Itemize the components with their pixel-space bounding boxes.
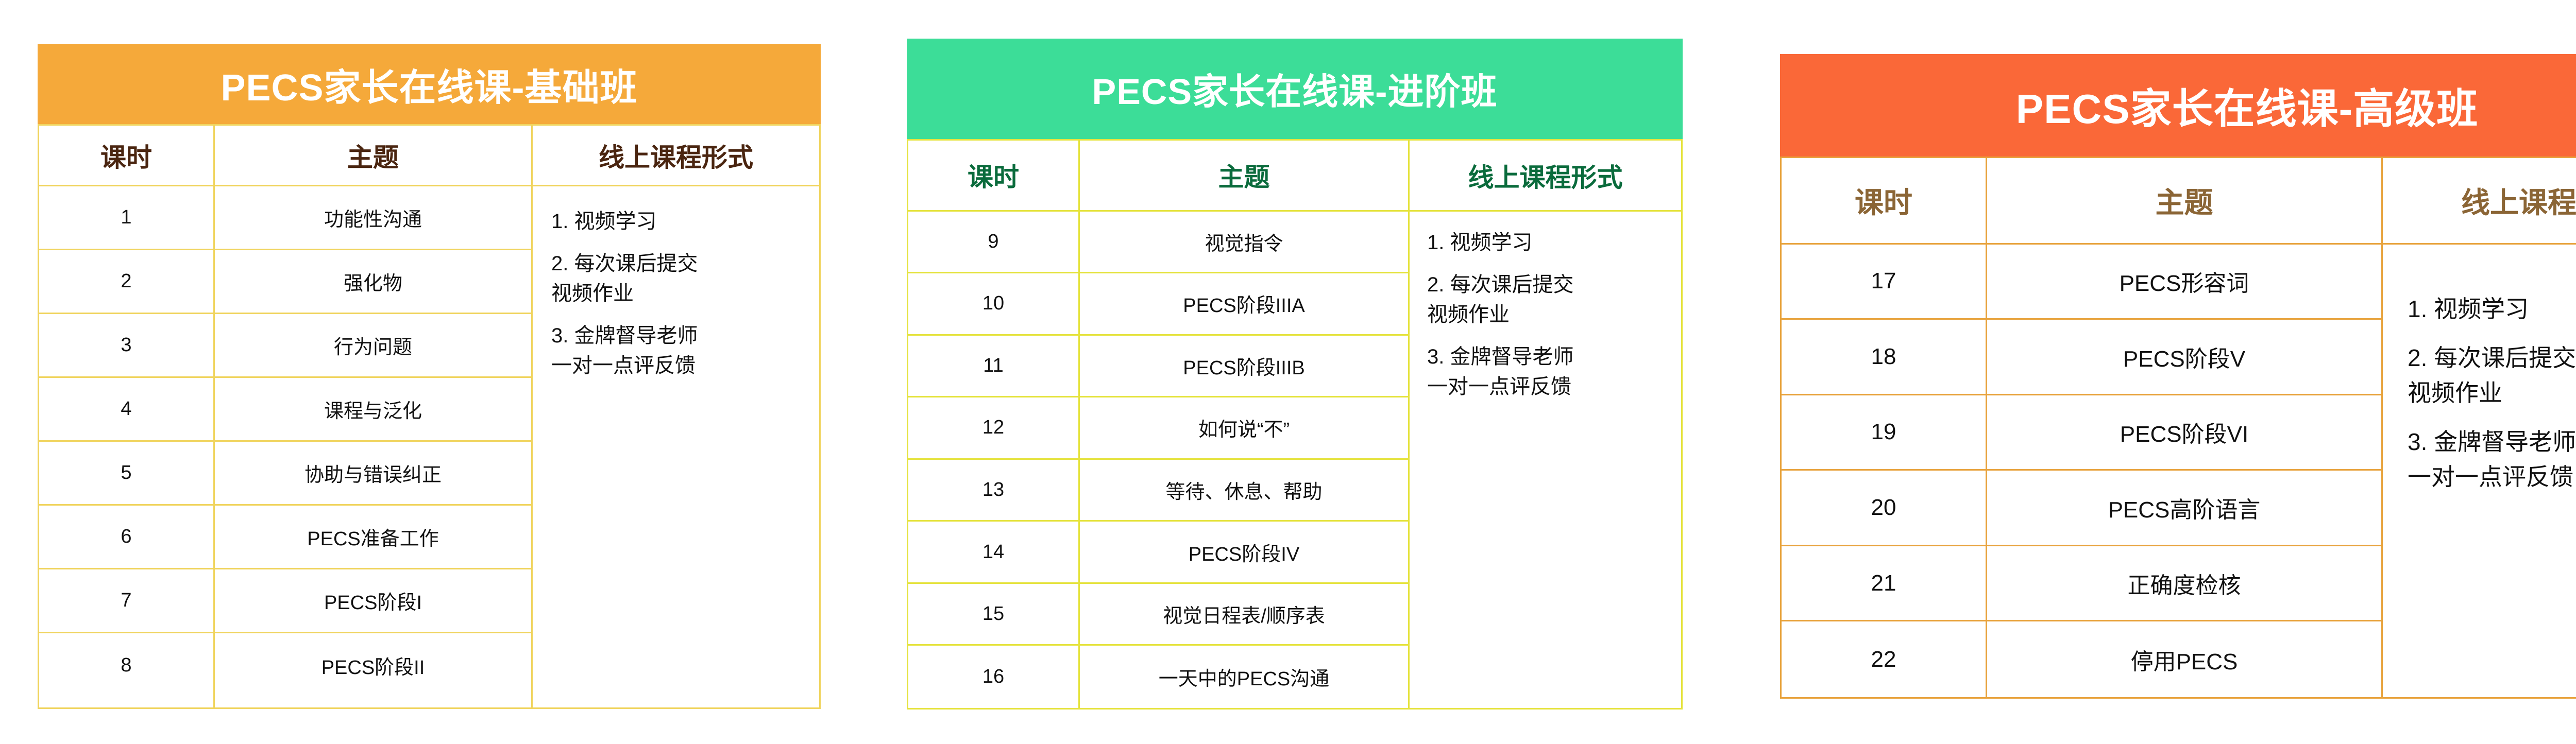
column-header-lesson-no: 课时	[39, 126, 213, 186]
course-format-item: 视频作业	[551, 279, 819, 308]
column-lesson-no: 课时 9 10 11 12 13 14 15 16	[908, 141, 1078, 708]
course-format-item: 1. 视频学习	[2408, 292, 2576, 326]
table-row: 等待、休息、帮助	[1080, 460, 1408, 522]
table-row: 19	[1782, 395, 1986, 471]
course-format-item: 2. 每次课后提交	[551, 249, 819, 279]
table-row: PECS阶段IIIA	[1080, 273, 1408, 336]
course-format-item: 一对一点评反馈	[1427, 372, 1681, 402]
table-row: 7	[39, 569, 213, 633]
course-format-item: 3. 金牌督导老师	[2408, 425, 2576, 459]
course-format-item: 一对一点评反馈	[2408, 460, 2576, 494]
table-grid-basic: 课时 1 2 3 4 5 6 7 8 主题 功能性沟通 强化物 行为问题 课程与…	[38, 124, 821, 709]
table-row: PECS阶段I	[215, 569, 531, 633]
table-row: 22	[1782, 621, 1986, 697]
table-row: 13	[908, 460, 1078, 522]
banner-title-advanced: PECS家长在线课-高级班	[2016, 76, 2479, 135]
table-row: 行为问题	[215, 314, 531, 378]
course-format-item: 3. 金牌督导老师	[551, 321, 819, 351]
table-row: PECS准备工作	[215, 506, 531, 569]
column-header-topic: 主题	[1080, 141, 1408, 212]
table-grid-advanced: 课时 17 18 19 20 21 22 主题 PECS形容词 PECS阶段V …	[1780, 157, 2576, 699]
table-row: PECS阶段VI	[1987, 395, 2381, 471]
table-row: 停用PECS	[1987, 621, 2381, 697]
table-row: 11	[908, 336, 1078, 398]
course-schedule-board: PECS家长在线课-基础班 课时 1 2 3 4 5 6 7 8 主题 功能性沟…	[0, 0, 2576, 744]
course-format-item: 1. 视频学习	[1427, 228, 1681, 257]
table-grid-intermediate: 课时 9 10 11 12 13 14 15 16 主题 视觉指令 PECS阶段…	[907, 139, 1683, 710]
course-format-item: 视频作业	[1427, 300, 1681, 330]
course-table-advanced: PECS家长在线课-高级班 课时 17 18 19 20 21 22 主题 PE…	[1780, 54, 2576, 699]
table-row: 20	[1782, 471, 1986, 546]
table-row: 4	[39, 378, 213, 442]
table-row: 1	[39, 186, 213, 250]
table-banner-advanced: PECS家长在线课-高级班	[1780, 54, 2576, 157]
column-header-course-format: 线上课程形式	[533, 126, 819, 186]
column-header-course-format: 线上课程形式	[1410, 141, 1681, 212]
table-row: PECS阶段IV	[1080, 522, 1408, 584]
column-topic: 主题 视觉指令 PECS阶段IIIA PECS阶段IIIB 如何说“不” 等待、…	[1078, 141, 1408, 708]
course-format-list: 1. 视频学习 2. 每次课后提交 视频作业 3. 金牌督导老师 一对一点评反馈	[2383, 245, 2576, 494]
table-row: PECS形容词	[1987, 245, 2381, 320]
table-row: 6	[39, 506, 213, 569]
course-format-item: 2. 每次课后提交	[1427, 270, 1681, 300]
column-lesson-no: 课时 17 18 19 20 21 22	[1782, 158, 1986, 697]
table-row: PECS高阶语言	[1987, 471, 2381, 546]
column-header-topic: 主题	[1987, 158, 2381, 245]
course-table-intermediate: PECS家长在线课-进阶班 课时 9 10 11 12 13 14 15 16 …	[907, 39, 1683, 710]
table-row: 视觉指令	[1080, 212, 1408, 274]
column-topic: 主题 PECS形容词 PECS阶段V PECS阶段VI PECS高阶语言 正确度…	[1986, 158, 2381, 697]
table-row: 18	[1782, 320, 1986, 395]
table-row: PECS阶段II	[215, 633, 531, 697]
table-row: 3	[39, 314, 213, 378]
table-row: 正确度检核	[1987, 546, 2381, 622]
table-row: 一天中的PECS沟通	[1080, 646, 1408, 708]
column-header-lesson-no: 课时	[908, 141, 1078, 212]
table-row: 14	[908, 522, 1078, 584]
column-course-format: 线上课程形式 1. 视频学习 2. 每次课后提交 视频作业 3. 金牌督导老师 …	[2381, 158, 2576, 697]
table-row: 8	[39, 633, 213, 697]
column-course-format: 线上课程形式 1. 视频学习 2. 每次课后提交 视频作业 3. 金牌督导老师 …	[531, 126, 819, 707]
table-row: 2	[39, 250, 213, 314]
table-row: 功能性沟通	[215, 186, 531, 250]
course-table-basic: PECS家长在线课-基础班 课时 1 2 3 4 5 6 7 8 主题 功能性沟…	[38, 44, 821, 709]
table-row: 10	[908, 273, 1078, 336]
table-row: 16	[908, 646, 1078, 708]
table-banner-intermediate: PECS家长在线课-进阶班	[907, 39, 1683, 139]
column-course-format: 线上课程形式 1. 视频学习 2. 每次课后提交 视频作业 3. 金牌督导老师 …	[1408, 141, 1681, 708]
table-row: 12	[908, 397, 1078, 460]
table-row: 如何说“不”	[1080, 397, 1408, 460]
course-format-item: 1. 视频学习	[551, 207, 819, 236]
table-row: PECS阶段V	[1987, 320, 2381, 395]
course-format-list: 1. 视频学习 2. 每次课后提交 视频作业 3. 金牌督导老师 一对一点评反馈	[1410, 212, 1681, 402]
column-lesson-no: 课时 1 2 3 4 5 6 7 8	[39, 126, 213, 707]
course-format-item: 视频作业	[2408, 376, 2576, 410]
table-row: 强化物	[215, 250, 531, 314]
course-format-list: 1. 视频学习 2. 每次课后提交 视频作业 3. 金牌督导老师 一对一点评反馈	[533, 186, 819, 380]
banner-title-basic: PECS家长在线课-基础班	[221, 57, 637, 111]
course-format-item: 2. 每次课后提交	[2408, 341, 2576, 375]
table-row: PECS阶段IIIB	[1080, 336, 1408, 398]
table-row: 课程与泛化	[215, 378, 531, 442]
table-row: 5	[39, 442, 213, 506]
column-header-lesson-no: 课时	[1782, 158, 1986, 245]
course-format-item: 一对一点评反馈	[551, 351, 819, 380]
table-banner-basic: PECS家长在线课-基础班	[38, 44, 821, 124]
banner-title-intermediate: PECS家长在线课-进阶班	[1092, 63, 1498, 115]
table-row: 21	[1782, 546, 1986, 622]
course-format-item: 3. 金牌督导老师	[1427, 342, 1681, 372]
table-row: 9	[908, 212, 1078, 274]
table-row: 协助与错误纠正	[215, 442, 531, 506]
column-header-topic: 主题	[215, 126, 531, 186]
table-row: 15	[908, 584, 1078, 646]
table-row: 视觉日程表/顺序表	[1080, 584, 1408, 646]
table-row: 17	[1782, 245, 1986, 320]
column-header-course-format: 线上课程形式	[2383, 158, 2576, 245]
column-topic: 主题 功能性沟通 强化物 行为问题 课程与泛化 协助与错误纠正 PECS准备工作…	[213, 126, 531, 707]
